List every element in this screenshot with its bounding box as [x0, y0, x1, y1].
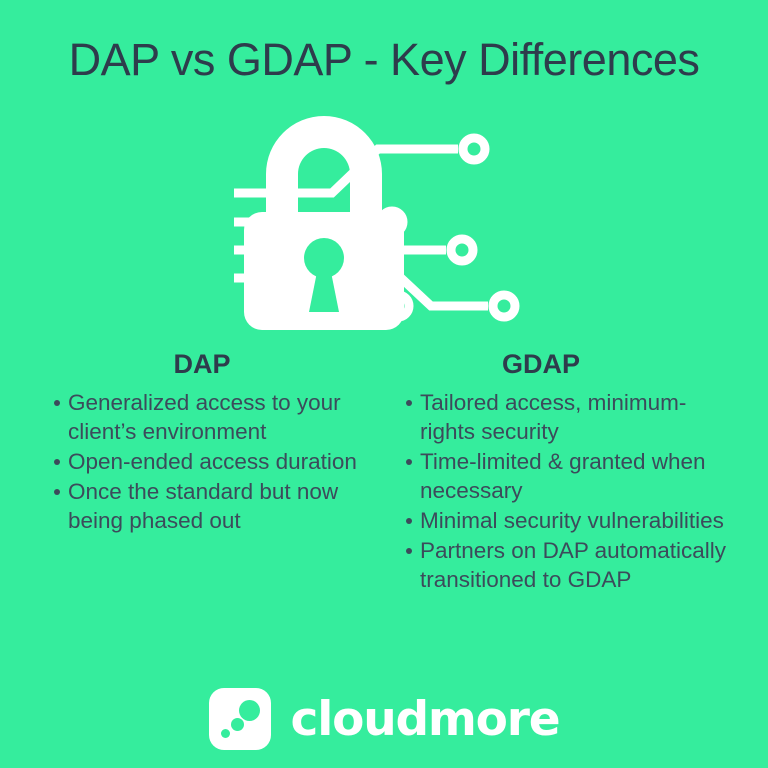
list-item: Generalized access to your client’s envi… [40, 388, 370, 446]
brand-wordmark: cloudmore [291, 696, 560, 743]
list-item: Partners on DAP automatically transition… [392, 536, 732, 594]
list-item: Once the standard but now being phased o… [40, 477, 370, 535]
column-heading-gdap: GDAP [392, 348, 732, 380]
infographic-page: DAP vs GDAP - Key Differences [0, 0, 768, 768]
lock-shackle [266, 116, 382, 218]
comparison-columns: DAP Generalized access to your client’s … [0, 348, 768, 668]
logo-dot-medium [231, 718, 244, 731]
logo-dot-small [221, 729, 230, 738]
cloudmore-logo-mark-icon [209, 688, 271, 750]
column-dap: DAP Generalized access to your client’s … [40, 348, 370, 536]
logo-dot-large [239, 700, 260, 721]
page-title: DAP vs GDAP - Key Differences [0, 34, 768, 86]
column-heading-dap: DAP [40, 348, 370, 380]
list-item: Minimal security vulnerabilities [392, 506, 732, 535]
column-gdap: GDAP Tailored access, minimum-rights sec… [392, 348, 732, 595]
footer-logo: cloudmore [0, 688, 768, 750]
bullet-list-gdap: Tailored access, minimum-rights security… [392, 388, 732, 594]
list-item: Tailored access, minimum-rights security [392, 388, 732, 446]
list-item: Open-ended access duration [40, 447, 370, 476]
list-item: Time-limited & granted when necessary [392, 447, 732, 505]
bullet-list-dap: Generalized access to your client’s envi… [40, 388, 370, 535]
padlock-circuit-icon [226, 100, 556, 330]
